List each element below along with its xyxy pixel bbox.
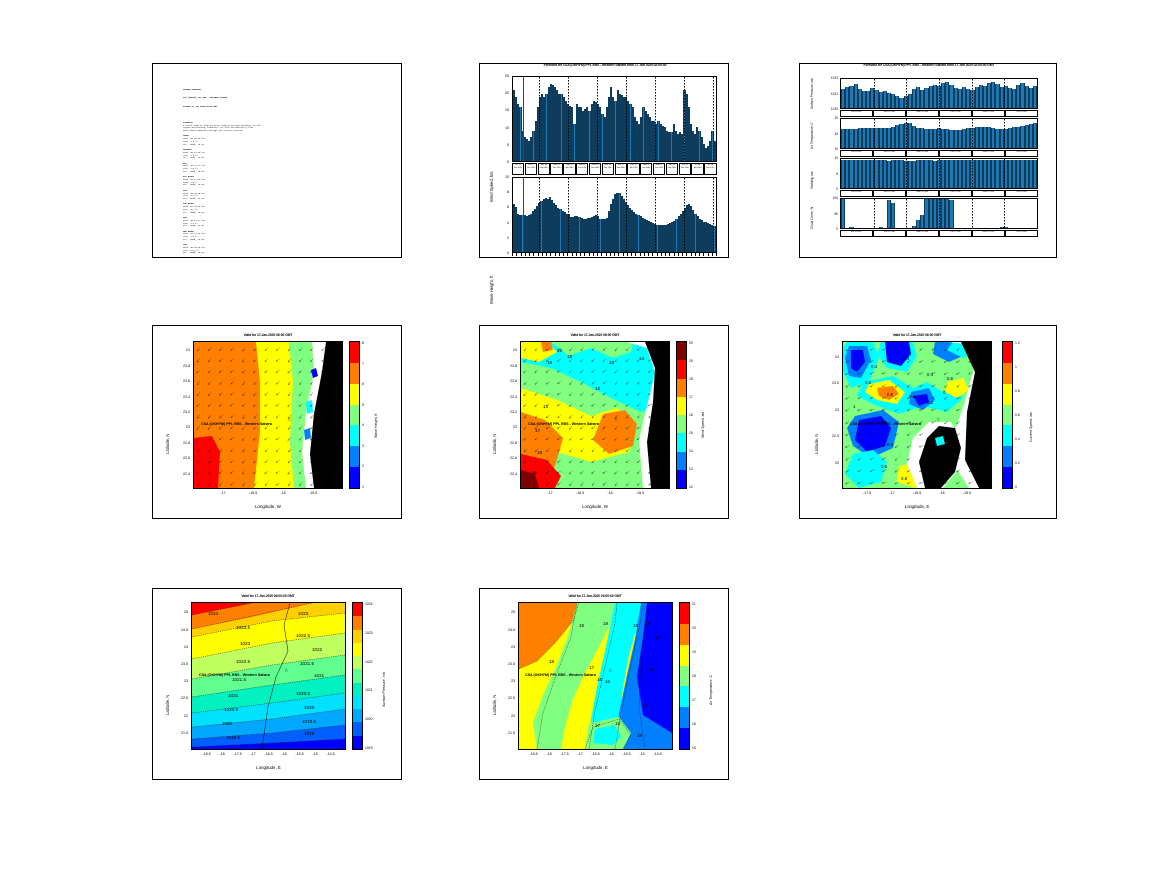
y-tick: 0 [818, 187, 838, 191]
day-divider [568, 77, 569, 161]
pressure-map-xlabel: Longitude, E [191, 765, 346, 770]
colorbar-tick: 15 [692, 746, 696, 750]
axis-tick [521, 253, 522, 256]
y-tick: 24 [501, 645, 515, 649]
x-tick: -15.5 [303, 491, 323, 495]
svg-text:1023.5: 1023.5 [236, 625, 250, 630]
x-tick: -14.5 [648, 752, 668, 756]
y-tick: 25 [493, 74, 509, 78]
current-map-site-label: CSA (OKHYM) PPL EBS - Western Sahara [850, 422, 921, 426]
date-tick: Sat 18 Jan [840, 190, 873, 197]
day-divider [874, 79, 875, 108]
colorbar-tick: 13 [689, 467, 693, 471]
date-tick: Tue 21 Jan [939, 110, 972, 117]
svg-text:17: 17 [643, 703, 649, 708]
date-tick: Tue 21 Jan [939, 190, 972, 197]
svg-text:1021.5: 1021.5 [232, 677, 246, 682]
date-tick: Wed 22 Jan [972, 150, 1005, 157]
date-tick: Wed 22Jan 00hr [640, 163, 652, 175]
x-tick: -16.5 [243, 491, 263, 495]
day-divider [906, 79, 907, 108]
colorbar-tick: 1020 [365, 717, 373, 721]
date-tick: Sat 18 Jan [840, 230, 873, 237]
svg-text:1019.5: 1019.5 [226, 735, 240, 740]
axis-tick [635, 253, 636, 256]
axis-tick [661, 253, 662, 256]
colorbar-tick: 5 [362, 403, 364, 407]
wind-speed-axes [512, 76, 717, 162]
date-tick: Sat 18Jan 12hr [550, 163, 562, 175]
date-tick: Wed 22Jan 12hr [653, 163, 665, 175]
axis-tick [550, 253, 551, 256]
report-block: SATWind NE 12-17 ktsSeas 4-5 ftVis Good,… [183, 163, 395, 174]
y-tick: 23 [501, 679, 515, 683]
y-tick: 22 [501, 714, 515, 718]
x-tick: -16 [273, 491, 293, 495]
metocean-axes-3 [840, 198, 1038, 229]
axis-tick [708, 253, 709, 256]
colorbar-tick: 16 [689, 413, 693, 417]
x-tick: -17 [540, 491, 560, 495]
y-tick: 5 [493, 143, 509, 147]
colorbar-tick: 1 [362, 485, 364, 489]
pressure-map-colorbar [352, 602, 363, 750]
date-tick: Wed 22 Jan [972, 230, 1005, 237]
y-tick: 23.6 [503, 379, 517, 383]
x-tick: -17 [213, 491, 233, 495]
colorbar-tick: 1024 [365, 602, 373, 606]
metocean-ylabel: Cloud Cover, % [810, 207, 814, 229]
axis-tick [597, 253, 598, 256]
issue-time-marker-wave [523, 178, 524, 252]
colorbar-tick: 20 [689, 341, 693, 345]
axis-tick [555, 253, 556, 256]
report-header: MARINE FORECAST CSA (OKHYM) PPL EBS - WE… [183, 84, 395, 114]
x-tick: -16.5 [570, 491, 590, 495]
axis-tick [567, 253, 568, 256]
axis-tick [542, 253, 543, 256]
axis-tick [533, 253, 534, 256]
y-tick: 23.2 [503, 410, 517, 414]
svg-text:16: 16 [597, 677, 603, 682]
svg-text:17: 17 [595, 723, 601, 728]
axis-tick [665, 253, 666, 256]
day-divider [655, 178, 656, 252]
y-tick: 23.8 [503, 364, 517, 368]
colorbar-tick: 17 [692, 698, 696, 702]
metocean-axes-0 [840, 78, 1038, 109]
y-tick: 22.8 [503, 441, 517, 445]
x-tick: -14.5 [321, 752, 341, 756]
colorbar-tick: 1019 [365, 746, 373, 750]
panel-surface-pressure-map: Valid for 17-Jan-2020 06:00:00 GMT Latit… [152, 588, 402, 780]
temperature-map-ylabel: Latitude, N [492, 695, 497, 715]
date-tick: Sun 19Jan 00hr [563, 163, 575, 175]
date-tick: Mon 20Jan 12hr [602, 163, 614, 175]
report-title: MARINE FORECAST [183, 89, 395, 92]
svg-text:0.6: 0.6 [909, 394, 916, 399]
date-tick: Fri 24Jan 00hr [691, 163, 703, 175]
current-map-colorbar-label: Current Speed, kts [1029, 412, 1033, 442]
report-text: MARINE FORECAST CSA (OKHYM) PPL EBS - WE… [183, 78, 395, 253]
y-tick: 25 [501, 610, 515, 614]
x-tick: -16 [600, 491, 620, 495]
svg-text:19: 19 [603, 621, 609, 626]
wave-height-contour [194, 342, 342, 488]
svg-text:19: 19 [579, 623, 585, 628]
site-marker-star: ☆ [614, 418, 618, 423]
y-tick: 23.6 [176, 379, 190, 383]
date-tick: Thu 23 Jan [1005, 110, 1038, 117]
colorbar-tick: 21 [692, 602, 696, 606]
colorbar-tick: 19 [689, 359, 693, 363]
wave-height-axes [512, 177, 717, 253]
svg-text:18: 18 [547, 360, 553, 365]
axis-tick [678, 253, 679, 256]
bar [891, 203, 895, 228]
colorbar-tick: 17 [689, 395, 693, 399]
axis-tick [669, 253, 670, 256]
wave-map-colorbar-label: Wave Height, ft [374, 414, 378, 438]
wind-speed-contour: 1918 1815 1416 1417 1819 [521, 342, 669, 488]
wave-map-site-label: CSA (OKHYM) PPL EBS - Western Sahara [201, 422, 272, 426]
report-line: Vis Good, 10 nm [183, 198, 395, 201]
svg-text:16: 16 [605, 679, 611, 684]
axis-tick [580, 253, 581, 256]
metocean-title: Forecast for CSA (OKHYM) PPL EBS - Weste… [802, 63, 1056, 67]
svg-text:1022.5: 1022.5 [296, 633, 310, 638]
panel-current-speed-map: Valid for 17-Jan-2020 06:00 GMT Latitude… [799, 325, 1057, 519]
axis-tick [606, 253, 607, 256]
day-divider [939, 159, 940, 188]
date-tick: Sat 18 Jan [840, 150, 873, 157]
y-tick: 10 [818, 156, 838, 160]
svg-text:1023: 1023 [298, 611, 309, 616]
day-divider [597, 178, 598, 252]
day-divider [539, 77, 540, 161]
temperature-map-colorbar-label: Air Temperature, C [709, 675, 713, 705]
y-tick: 22.5 [501, 696, 515, 700]
metocean-axes-1 [840, 118, 1038, 149]
y-tick: 24 [503, 348, 517, 352]
report-line: Seas remain moderate through the forecas… [183, 130, 395, 133]
y-tick: 22.6 [503, 456, 517, 460]
report-line: Vis Good, 10 nm [183, 239, 395, 242]
bar [1033, 160, 1037, 188]
y-tick: 0 [493, 160, 509, 164]
day-divider [655, 77, 656, 161]
current-speed-contour: 0.40.6 0.40.4 0.60.8 0.60.2 10.4 0.60.6 … [843, 342, 991, 488]
temperature-map-title: Valid for 17-Jan-2020 03:00:00 GMT [520, 594, 670, 598]
axis-tick [695, 253, 696, 256]
site-marker-star: ☆ [608, 669, 612, 674]
y-tick: 23.2 [176, 410, 190, 414]
svg-text:0.6: 0.6 [881, 464, 888, 469]
day-divider [906, 199, 907, 228]
report-blocks: SYNOPSISA broad ridge of high pressure r… [183, 122, 395, 258]
site-marker-star: ☆ [936, 418, 940, 423]
day-divider [626, 178, 627, 252]
date-tick: Wed 22 Jan [972, 190, 1005, 197]
wave-map-colorbar [349, 341, 360, 489]
colorbar-tick: 0.4 [1015, 437, 1020, 441]
svg-text:0.6: 0.6 [887, 442, 894, 447]
axis-tick [601, 253, 602, 256]
x-tick: -17.5 [857, 491, 877, 495]
y-tick: 50 [818, 212, 838, 216]
y-tick: 23.8 [176, 364, 190, 368]
date-tick: Fri 17Jan 02hr [512, 163, 524, 175]
svg-text:14: 14 [543, 404, 549, 409]
y-tick: 10 [493, 175, 509, 179]
report-line: Vis Good, 10 nm [183, 212, 395, 215]
day-divider [906, 119, 907, 148]
svg-text:17: 17 [535, 428, 541, 433]
x-tick: -16.5 [907, 491, 927, 495]
date-tick: Sun 19 Jan [873, 190, 906, 197]
day-divider [713, 178, 714, 252]
day-divider [939, 119, 940, 148]
axis-tick [559, 253, 560, 256]
svg-text:17: 17 [645, 621, 651, 626]
wind-map-title: Valid for 17-Jan-2020 06:00 GMT [520, 333, 670, 337]
wind-map-ylabel: Latitude, N [492, 434, 497, 454]
wave-map-ylabel: Latitude, N [165, 434, 170, 454]
metocean-ylabel: Visibility, nm [810, 172, 814, 189]
y-tick: 22.5 [825, 434, 839, 438]
date-tick: Wed 22 Jan [972, 110, 1005, 117]
report-block: SUNWind NE 15-20 ktsSeas 5-7 ftVis Good,… [183, 190, 395, 201]
axis-tick [589, 253, 590, 256]
date-tick: Fri 24Jan 12hr [704, 163, 716, 175]
wind-speed-bars [513, 77, 716, 161]
day-divider [568, 178, 569, 252]
svg-text:1023: 1023 [240, 641, 251, 646]
axis-tick [652, 253, 653, 256]
y-tick: 23 [503, 425, 517, 429]
date-tick: Sun 19 Jan [873, 150, 906, 157]
svg-text:15: 15 [609, 360, 615, 365]
date-tick: Fri 17Jan 12hr [525, 163, 537, 175]
colorbar-tick: 0.2 [1015, 461, 1020, 465]
y-tick: 1023 [818, 76, 838, 80]
date-tick: Tue 21 Jan [939, 150, 972, 157]
y-tick: 22.6 [176, 456, 190, 460]
date-tick: Thu 23 Jan [1005, 190, 1038, 197]
axis-tick [512, 253, 513, 256]
colorbar-tick: 3 [362, 444, 364, 448]
date-tick: Sun 19 Jan [873, 110, 906, 117]
axis-tick [627, 253, 628, 256]
y-tick: 24 [174, 645, 188, 649]
svg-text:0.6: 0.6 [947, 376, 954, 381]
day-divider [1004, 199, 1005, 228]
current-map-ylabel: Latitude, N [814, 434, 819, 454]
report-block: SAT NIGHTWind NE 12-16 ktsSeas 3-5 ftVis… [183, 176, 395, 187]
svg-text:1020: 1020 [222, 721, 233, 726]
y-tick: 24 [176, 348, 190, 352]
y-tick: 23.4 [176, 395, 190, 399]
day-divider [972, 159, 973, 188]
report-issued: ISSUED 17 JAN 2020 02:00 GMT [183, 106, 395, 109]
day-divider [539, 178, 540, 252]
report-block: SYNOPSISA broad ridge of high pressure r… [183, 122, 395, 133]
x-tick: -16 [932, 491, 952, 495]
wind-map-axes: 1918 1815 1416 1417 1819 [520, 341, 670, 489]
wave-height-ylabel: Wave Height, ft [489, 276, 494, 304]
bar [849, 227, 853, 228]
wave-map-xlabel: Longitude, W [193, 504, 343, 509]
wave-map-title: Valid for 17-Jan-2020 06:00 GMT [193, 333, 343, 337]
y-tick: 23.5 [174, 662, 188, 666]
svg-text:16: 16 [655, 635, 661, 640]
colorbar-tick: 4 [362, 423, 364, 427]
svg-text:1019.5: 1019.5 [302, 719, 316, 724]
y-tick: 20 [818, 116, 838, 120]
site-marker-star: ☆ [284, 669, 288, 674]
wind-map-colorbar [676, 341, 687, 489]
y-tick: 8 [493, 190, 509, 194]
date-tick: Sat 18 Jan [840, 110, 873, 117]
y-tick: 10 [493, 126, 509, 130]
axis-tick [614, 253, 615, 256]
axis-tick [691, 253, 692, 256]
axis-tick [610, 253, 611, 256]
day-divider [874, 199, 875, 228]
y-tick: 0 [493, 251, 509, 255]
svg-text:15: 15 [615, 721, 621, 726]
date-tick: Mon 20 Jan [906, 230, 939, 237]
wind-map-site-label: CSA (OKHYM) PPL EBS - Western Sahara [528, 422, 599, 426]
y-tick: 20 [493, 91, 509, 95]
timeseries-title: Forecast for CSA (OKHYM) PPL EBS - Weste… [482, 63, 728, 67]
y-tick: 1019 [818, 107, 838, 111]
pressure-map-colorbar-label: Surface Pressure, mb [382, 672, 386, 707]
report-line: Vis Good, 10 nm [183, 252, 395, 255]
colorbar-tick: 15 [689, 431, 693, 435]
date-tick: Sat 18Jan 00hr [538, 163, 550, 175]
axis-tick [657, 253, 658, 256]
svg-text:19: 19 [531, 470, 537, 475]
axis-tick [682, 253, 683, 256]
report-line: Vis Good, 10 nm [183, 157, 395, 160]
report-subtitle: CSA (OKHYM) PPL EBS - WESTERN SAHARA [183, 97, 395, 100]
axis-tick [563, 253, 564, 256]
bar [1033, 86, 1037, 108]
current-map-title: Valid for 17-Jan-2020 06:00 GMT [842, 333, 992, 337]
y-tick: 25 [174, 610, 188, 614]
axis-tick [525, 253, 526, 256]
day-divider [972, 79, 973, 108]
y-tick: 24.5 [174, 628, 188, 632]
axis-tick [572, 253, 573, 256]
colorbar-tick: 7 [362, 362, 364, 366]
x-tick: -15.5 [957, 491, 977, 495]
y-tick: 22.8 [176, 441, 190, 445]
bar [1033, 123, 1037, 148]
panel-metocean-stack: Forecast for CSA (OKHYM) PPL EBS - Weste… [799, 63, 1057, 258]
day-divider [939, 199, 940, 228]
day-divider [626, 77, 627, 161]
pressure-map-site-label: CSA (OKHYM) PPL EBS - Western Sahara [199, 673, 270, 677]
y-tick: 22.5 [174, 696, 188, 700]
colorbar-tick: 18 [692, 674, 696, 678]
y-tick: 23.5 [825, 381, 839, 385]
svg-text:1024: 1024 [208, 611, 219, 616]
svg-text:1020: 1020 [304, 705, 315, 710]
date-tick: Sun 19Jan 12hr [576, 163, 588, 175]
wind-map-xlabel: Longitude, W [520, 504, 670, 509]
bar [841, 199, 845, 228]
pressure-map-ylabel: Latitude, N [165, 695, 170, 715]
axis-tick [516, 253, 517, 256]
report-block: TODAYWind NE 15-20 ktsSeas 4-6 ftVis Goo… [183, 135, 395, 146]
day-divider [684, 178, 685, 252]
colorbar-tick: 1 [1015, 365, 1017, 369]
day-divider [874, 159, 875, 188]
x-tick: -17 [882, 491, 902, 495]
y-tick: 15 [818, 132, 838, 136]
svg-text:1019: 1019 [304, 731, 315, 736]
svg-text:1021: 1021 [314, 673, 325, 678]
colorbar-tick: 1.2 [1015, 341, 1020, 345]
colorbar-tick: 0.8 [1015, 389, 1020, 393]
axis-tick [618, 253, 619, 256]
y-tick: 22 [825, 461, 839, 465]
colorbar-tick: 1023 [365, 631, 373, 635]
figure-page: MARINE FORECAST CSA (OKHYM) PPL EBS - WE… [0, 0, 1167, 875]
temperature-map-colorbar [679, 602, 690, 750]
date-tick: Sun 19 Jan [873, 230, 906, 237]
report-line: Vis Good, 10 nm [183, 184, 395, 187]
report-line: Vis Good, 10 nm [183, 171, 395, 174]
day-divider [1004, 119, 1005, 148]
day-divider [939, 79, 940, 108]
colorbar-tick: 6 [362, 382, 364, 386]
current-map-xlabel: Longitude, E [842, 504, 992, 509]
colorbar-tick: 1022 [365, 660, 373, 664]
y-tick: 23.5 [501, 662, 515, 666]
colorbar-tick: 18 [689, 377, 693, 381]
metocean-ylabel: Air Temperature, C [810, 122, 814, 149]
y-tick: 6 [493, 205, 509, 209]
svg-text:19: 19 [557, 348, 563, 353]
temperature-map-xlabel: Longitude, E [518, 765, 673, 770]
date-tick: Mon 20 Jan [906, 190, 939, 197]
axis-tick [538, 253, 539, 256]
report-block: SUN NIGHTWind NE 15-19 ktsSeas 5-7 ftVis… [183, 203, 395, 214]
svg-text:14: 14 [639, 356, 645, 361]
day-divider [906, 159, 907, 188]
day-divider [597, 77, 598, 161]
bar [949, 200, 953, 228]
svg-text:16: 16 [649, 667, 655, 672]
y-tick: 22.4 [176, 472, 190, 476]
day-divider [874, 119, 875, 148]
date-tick: Tue 21Jan 00hr [615, 163, 627, 175]
date-tick: Tue 21Jan 12hr [627, 163, 639, 175]
date-tick: Thu 23 Jan [1005, 150, 1038, 157]
wave-height-bars [513, 178, 716, 252]
panel-wave-height-map: Valid for 17-Jan-2020 06:00 GMT Latitude… [152, 325, 402, 519]
svg-text:1021: 1021 [228, 693, 239, 698]
day-divider [1004, 159, 1005, 188]
y-tick: 24.5 [501, 628, 515, 632]
axis-tick [631, 253, 632, 256]
temperature-map-site-label: CSA (OKHYM) PPL EBS - Western Sahara [525, 673, 596, 677]
report-block: TONIGHTWind NE 14-18 ktsSeas 4-5 ftVis G… [183, 149, 395, 160]
svg-text:1020.5: 1020.5 [224, 707, 238, 712]
